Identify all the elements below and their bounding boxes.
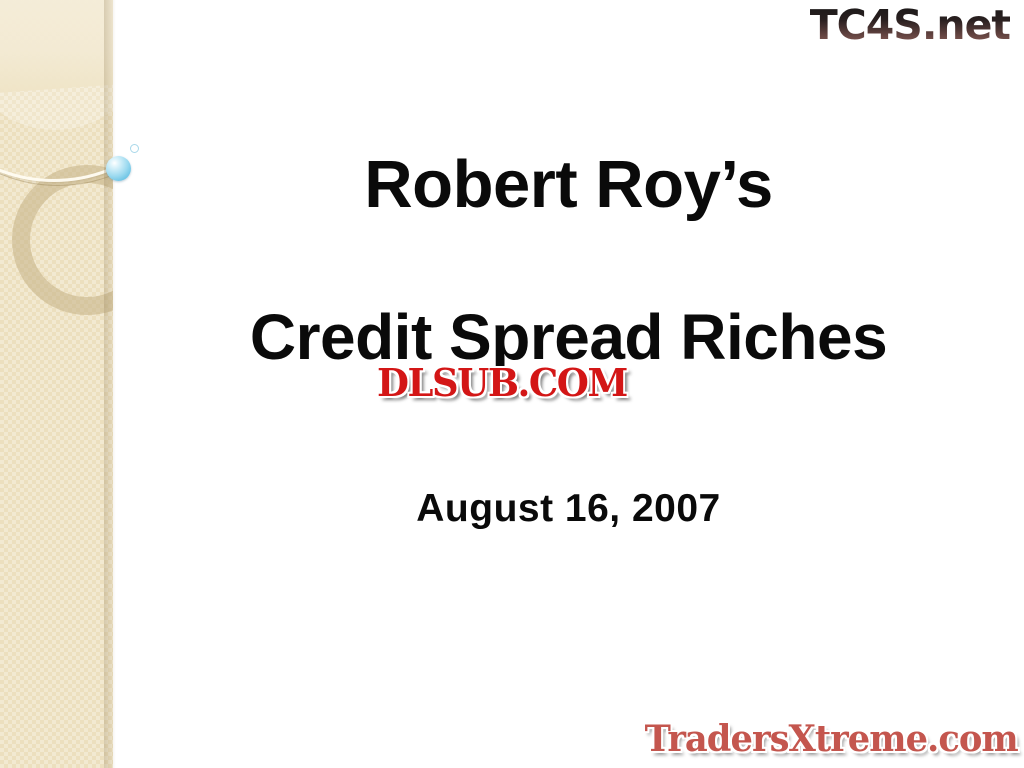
slide-headline-block: Robert Roy’s Credit Spread Riches xyxy=(113,150,1024,372)
page-title-line-one: Robert Roy’s xyxy=(113,150,1024,220)
presentation-slide: Robert Roy’s Credit Spread Riches August… xyxy=(0,0,1024,768)
headline-spacer xyxy=(113,220,1024,304)
cream-arc-shape xyxy=(0,0,113,182)
decorative-sidebar xyxy=(0,0,113,768)
sidebar-edge-shadow xyxy=(104,0,116,768)
dlsub-watermark: DLSUB.COM xyxy=(377,360,627,405)
tc4s-logo-watermark: TC4S.net xyxy=(810,1,1010,49)
tradersxtreme-watermark: TradersXtreme.com xyxy=(645,718,1018,760)
slide-date: August 16, 2007 xyxy=(113,487,1024,531)
